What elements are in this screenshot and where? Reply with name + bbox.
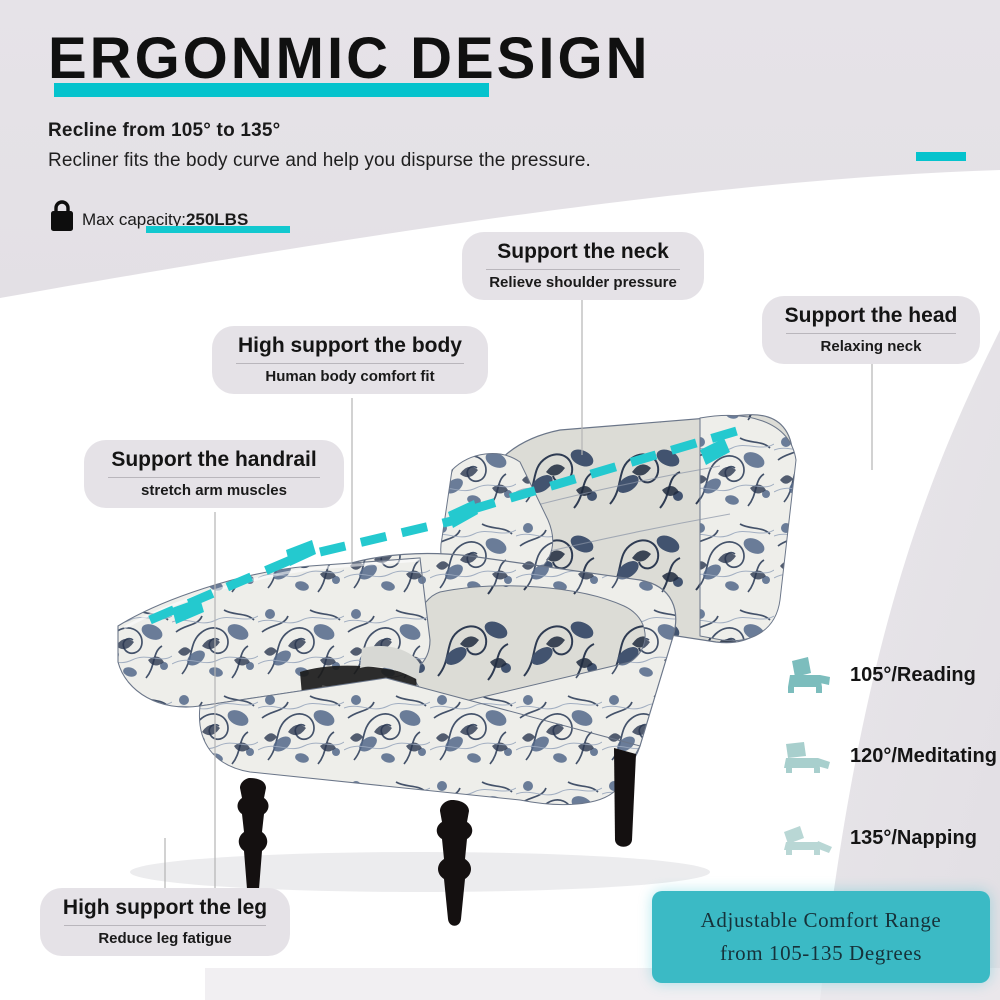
comfort-line-1: Adjustable Comfort Range [701,904,942,937]
callout-divider [486,269,680,270]
callout-subtitle: Human body comfort fit [230,368,470,385]
capacity-underline [146,226,290,233]
callout-subtitle: Relaxing neck [780,338,962,355]
accent-dash [916,152,966,161]
angle-row-120: 120°/Meditating [782,736,997,776]
callout-divider [108,477,320,478]
recline-range-text: Recline from 105° to 135° [48,120,280,142]
recliner-reclined-icon [782,818,836,858]
callout-support-neck[interactable]: Support the neck Relieve shoulder pressu… [462,232,704,300]
callout-subtitle: Relieve shoulder pressure [480,274,686,291]
lock-icon [48,198,76,232]
adjustable-comfort-range-box: Adjustable Comfort Range from 105-135 De… [652,891,990,983]
page-subtitle: Recliner fits the body curve and help yo… [48,150,591,172]
callout-divider [786,333,956,334]
infographic-page: ERGONMIC DESIGN Recline from 105° to 135… [0,0,1000,1000]
angle-row-105: 105°/Reading [782,655,976,695]
callout-support-head[interactable]: Support the head Relaxing neck [762,296,980,364]
callout-title: Support the handrail [102,448,326,472]
callout-title: High support the body [230,334,470,358]
recliner-tilted-icon [782,736,836,776]
callout-divider [64,925,266,926]
page-title-wrap: ERGONMIC DESIGN [48,30,651,88]
callout-title: Support the head [780,304,962,328]
angle-label: 135°/Napping [850,827,977,850]
angle-label: 105°/Reading [850,664,976,687]
page-title: ERGONMIC DESIGN [48,30,651,88]
callout-high-support-leg[interactable]: High support the leg Reduce leg fatigue [40,888,290,956]
callout-subtitle: stretch arm muscles [102,482,326,499]
callout-title: Support the neck [480,240,686,264]
comfort-line-2: from 105-135 Degrees [720,937,922,970]
recliner-upright-icon [782,655,836,695]
angle-label: 120°/Meditating [850,745,997,768]
angle-row-135: 135°/Napping [782,818,977,858]
callout-divider [236,363,464,364]
callout-high-support-body[interactable]: High support the body Human body comfort… [212,326,488,394]
callout-subtitle: Reduce leg fatigue [58,930,272,947]
callout-title: High support the leg [58,896,272,920]
callout-support-handrail[interactable]: Support the handrail stretch arm muscles [84,440,344,508]
